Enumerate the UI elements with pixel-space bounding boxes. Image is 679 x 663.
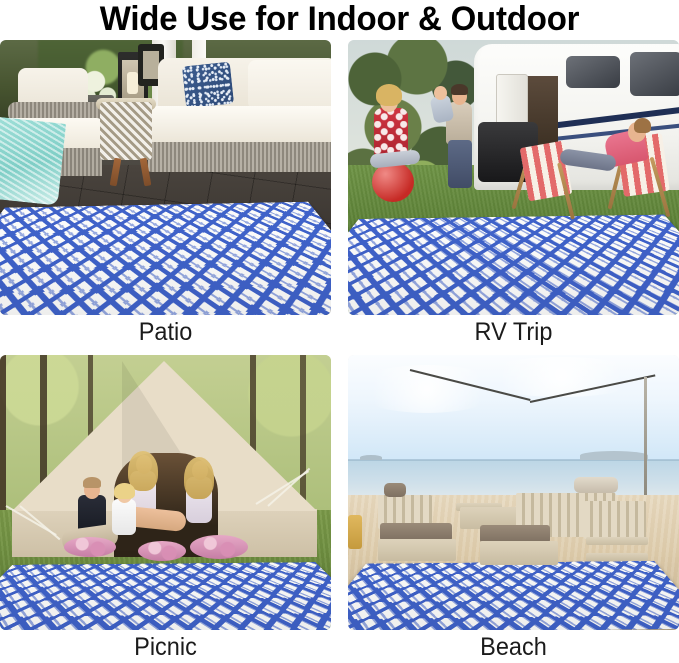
rv-window-rear bbox=[630, 52, 679, 96]
island-left bbox=[360, 455, 382, 460]
sofa-seat-cushion bbox=[150, 106, 331, 144]
chair-left-pillow bbox=[384, 483, 406, 497]
caption-beach: Beach bbox=[358, 631, 669, 663]
photo-rv-trip bbox=[348, 40, 679, 315]
wicker-sofa bbox=[148, 58, 331, 178]
photo-beach bbox=[348, 355, 679, 630]
outdoor-rug-patio bbox=[0, 202, 331, 315]
page-title: Wide Use for Indoor & Outdoor bbox=[10, 0, 669, 38]
beach-umbrella-base bbox=[348, 515, 362, 549]
panel-beach[interactable]: Beach bbox=[348, 355, 679, 663]
chair-left-base bbox=[378, 539, 456, 561]
island-right bbox=[580, 451, 648, 460]
woman-pink-hoodie-hair bbox=[634, 118, 651, 133]
panel-grid: Patio bbox=[0, 40, 679, 661]
side-table-body bbox=[100, 102, 152, 160]
navy-throw-pillow bbox=[182, 62, 234, 109]
floral-cushion-middle bbox=[138, 541, 186, 561]
outdoor-rug-picnic bbox=[0, 562, 331, 630]
father-hair bbox=[83, 477, 101, 488]
man-jeans bbox=[448, 140, 472, 188]
bench-pillow bbox=[574, 477, 618, 493]
young-child-hair bbox=[114, 483, 135, 499]
outdoor-rug-rv bbox=[348, 215, 679, 315]
floral-cushion-right bbox=[190, 535, 248, 559]
light-pole bbox=[644, 377, 647, 495]
shelf-unit-top bbox=[584, 501, 646, 539]
wicker-armchair bbox=[0, 68, 112, 186]
photo-patio bbox=[0, 40, 331, 315]
older-girl-hair bbox=[184, 457, 214, 499]
photo-picnic bbox=[0, 355, 331, 630]
caption-patio: Patio bbox=[10, 316, 321, 348]
panel-rv-trip[interactable]: RV Trip bbox=[348, 40, 679, 348]
caption-picnic: Picnic bbox=[10, 631, 321, 663]
shelf-unit-base bbox=[586, 553, 648, 561]
rv-window-front bbox=[566, 56, 620, 88]
man-hair bbox=[451, 84, 468, 95]
floral-cushion-left bbox=[64, 537, 116, 557]
panel-patio[interactable]: Patio bbox=[0, 40, 331, 348]
panel-picnic[interactable]: Picnic bbox=[0, 355, 331, 663]
young-child-shirt bbox=[112, 499, 136, 535]
bench-base bbox=[480, 541, 558, 565]
girl-blonde-hair bbox=[376, 84, 402, 106]
caption-rv-trip: RV Trip bbox=[358, 316, 669, 348]
red-hopper-ball bbox=[372, 162, 414, 202]
toddler-head bbox=[434, 86, 447, 100]
shelf-unit-shelf bbox=[586, 537, 648, 545]
teal-throw-blanket bbox=[0, 116, 66, 205]
sofa-backrest-right bbox=[248, 60, 331, 110]
infographic-root: Wide Use for Indoor & Outdoor bbox=[0, 0, 679, 661]
sofa-wicker-base bbox=[148, 142, 331, 172]
